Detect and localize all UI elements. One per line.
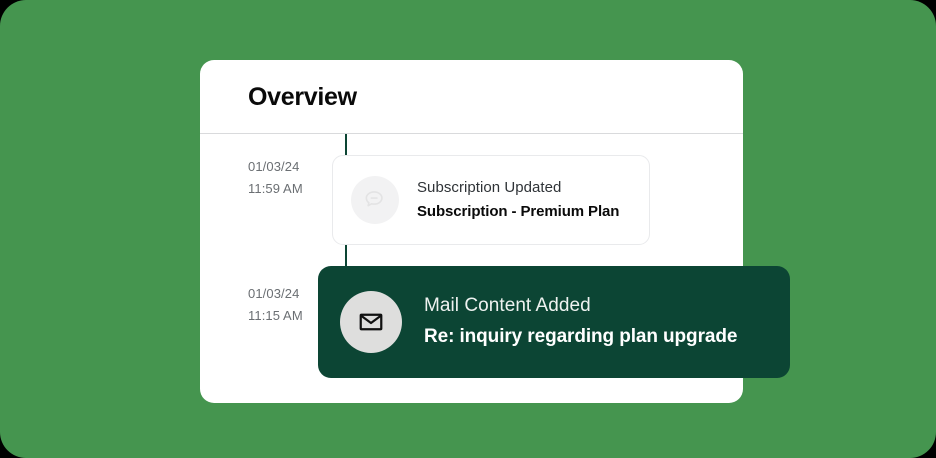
timeline-time: 11:59 AM — [248, 178, 336, 200]
app-background: Overview 01/03/24 11:59 AM 01/03/24 11:1… — [0, 0, 936, 458]
event-text-group: Subscription Updated Subscription - Prem… — [417, 176, 619, 224]
chat-bubble-icon — [362, 187, 388, 213]
timeline-event-card-mail[interactable]: Mail Content Added Re: inquiry regarding… — [318, 266, 790, 378]
page-title: Overview — [248, 81, 357, 113]
timeline-timestamp: 01/03/24 11:59 AM — [248, 156, 336, 200]
timeline-event-card-subscription[interactable]: Subscription Updated Subscription - Prem… — [332, 155, 650, 245]
avatar — [351, 176, 399, 224]
panel-header: Overview — [200, 60, 743, 134]
envelope-icon — [357, 308, 385, 336]
event-text-group: Mail Content Added Re: inquiry regarding… — [424, 291, 737, 353]
event-subject-label: Re: inquiry regarding plan upgrade — [424, 321, 737, 353]
avatar — [340, 291, 402, 353]
timeline-date: 01/03/24 — [248, 156, 336, 178]
event-kind-label: Mail Content Added — [424, 291, 737, 321]
event-kind-label: Subscription Updated — [417, 176, 619, 199]
event-subject-label: Subscription - Premium Plan — [417, 199, 619, 224]
